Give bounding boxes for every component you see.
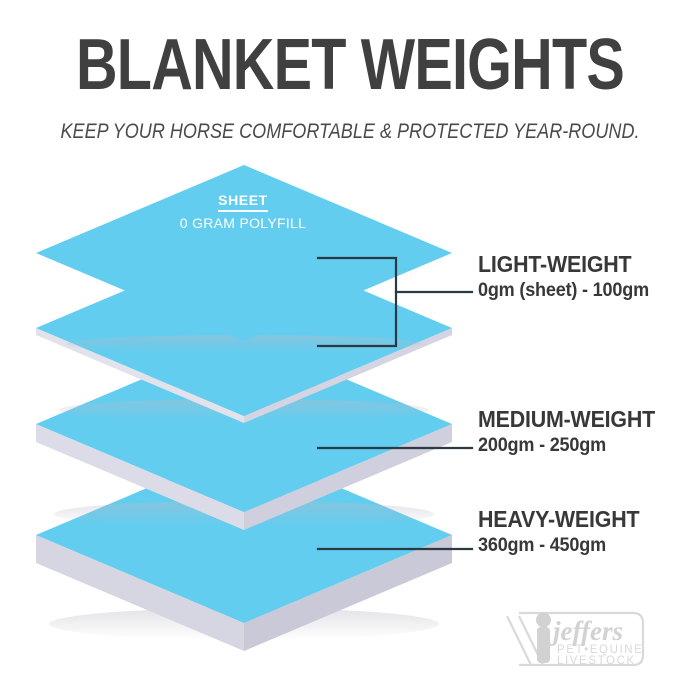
- callout-light-weight-range: 0gm (sheet) - 100gm: [478, 279, 682, 302]
- callout-medium-weight: MEDIUM-WEIGHT 200gm - 250gm: [478, 406, 693, 457]
- callout-heavy-weight: HEAVY-WEIGHT 360gm - 450gm: [478, 506, 693, 557]
- blanket-stack-diagram: [0, 0, 700, 700]
- callout-heavy-weight-range: 360gm - 450gm: [478, 534, 682, 557]
- callout-heavy-weight-heading: HEAVY-WEIGHT: [478, 506, 678, 532]
- jeffers-logo: jeffers PET•EQUINE LIVESTOCK: [497, 608, 652, 670]
- callout-medium-weight-range: 200gm - 250gm: [478, 434, 682, 457]
- callout-light-weight-heading: LIGHT-WEIGHT: [478, 251, 678, 277]
- jeffers-tagline-line2: LIVESTOCK: [557, 655, 636, 667]
- callout-medium-weight-heading: MEDIUM-WEIGHT: [478, 406, 678, 432]
- callout-light-weight: LIGHT-WEIGHT 0gm (sheet) - 100gm: [478, 251, 693, 302]
- infographic-canvas: BLANKET WEIGHTS KEEP YOUR HORSE COMFORTA…: [0, 0, 700, 700]
- jeffers-wordmark: jeffers: [549, 616, 623, 646]
